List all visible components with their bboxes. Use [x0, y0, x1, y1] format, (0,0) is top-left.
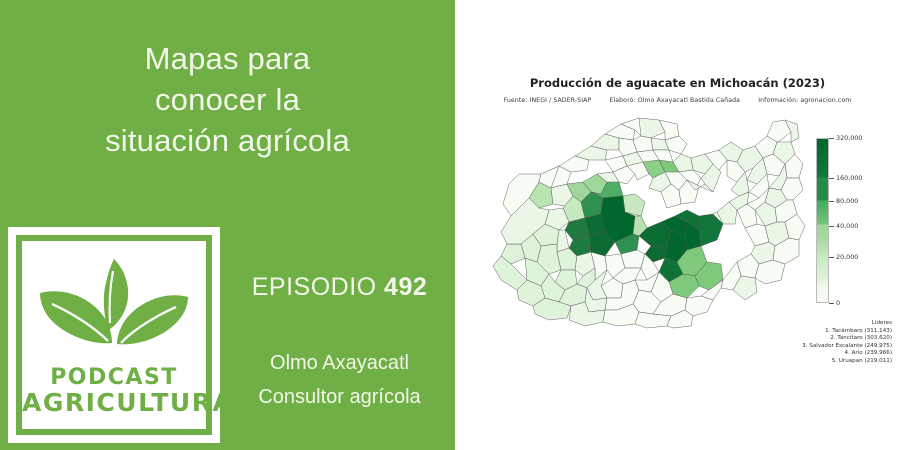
credit-info: Información: agronacion.com	[758, 97, 851, 104]
leader-name-4: Ario	[852, 350, 863, 356]
colorbar-label-4: 20,000	[836, 253, 858, 261]
credit-author: Elaboró: Olmo Axayacatl Bastida Cañada	[609, 97, 740, 104]
colorbar-label-2: 80,000	[836, 197, 858, 205]
colorbar-tick-2	[829, 201, 834, 202]
list-item: 3. Salvador Escalante (249,975)	[802, 343, 892, 351]
episode-line: EPISODIO 492	[224, 273, 455, 302]
logo-frame: PODCAST AGRICULTURA	[16, 235, 212, 435]
episode-label: EPISODIO	[252, 273, 377, 301]
leader-rank-5: 5.	[832, 358, 837, 364]
leader-name-5: Uruapan	[839, 358, 863, 364]
colorbar-label-3: 40,000	[836, 222, 858, 230]
leader-name-2: Tancítaro	[837, 335, 862, 341]
choropleth-map	[455, 112, 815, 337]
credit-source: Fuente: INEGI / SADER-SIAP	[504, 97, 592, 104]
podcast-logo: PODCAST AGRICULTURA	[8, 227, 220, 443]
colorbar-legend: 320,000 160,000 80,000 40,000 20,000 0 T…	[815, 130, 900, 310]
leaders-list: Líderes 1. Tacámbaro (311,143) 2. Tancít…	[802, 320, 892, 366]
colorbar-label-0: 320,000	[836, 134, 862, 142]
podcast-episode-cover: Mapas para conocer la situación agrícola	[0, 0, 900, 450]
leader-value-4: (239,966)	[865, 350, 893, 356]
logo-word-agricultura: AGRICULTURA	[22, 390, 206, 415]
colorbar-tick-1	[829, 178, 834, 179]
map-title: Producción de aguacate en Michoacán (202…	[455, 76, 900, 90]
leader-rank-4: 4.	[844, 350, 849, 356]
promo-panel: Mapas para conocer la situación agrícola	[0, 0, 455, 450]
logo-word-podcast: PODCAST	[22, 365, 206, 390]
leader-value-5: (219,011)	[865, 358, 893, 364]
leader-rank-2: 2.	[830, 335, 835, 341]
colorbar-label-1: 160,000	[836, 174, 862, 182]
map-credits: Fuente: INEGI / SADER-SIAP Elaboró: Olmo…	[455, 97, 900, 104]
colorbar-gradient	[816, 138, 829, 303]
leader-rank-1: 1.	[825, 328, 830, 334]
episode-number: 492	[384, 273, 427, 301]
leader-value-2: (303,620)	[865, 335, 893, 341]
colorbar-tick-4	[829, 257, 834, 258]
host-role: Consultor agrícola	[224, 386, 455, 409]
colorbar-tick-0	[829, 138, 834, 139]
leader-rank-3: 3.	[802, 343, 807, 349]
map-figure-panel: Producción de aguacate en Michoacán (202…	[455, 0, 900, 450]
colorbar-label-5: 0	[836, 299, 840, 307]
colorbar-tick-3	[829, 226, 834, 227]
leader-value-1: (311,143)	[865, 328, 893, 334]
logo-wordmark: PODCAST AGRICULTURA	[22, 365, 206, 415]
leader-value-3: (249,975)	[865, 343, 893, 349]
leader-name-1: Tacámbaro	[832, 328, 862, 334]
list-item: 4. Ario (239,966)	[802, 350, 892, 358]
list-item: 5. Uruapan (219,011)	[802, 358, 892, 366]
list-item: 2. Tancítaro (303,620)	[802, 335, 892, 343]
leader-name-3: Salvador Escalante	[809, 343, 862, 349]
three-leaves-icon	[34, 257, 194, 357]
leaders-title: Líderes	[802, 320, 892, 328]
page-title: Mapas para conocer la situación agrícola	[0, 38, 455, 161]
colorbar-tick-5	[829, 303, 834, 304]
host-name: Olmo Axayacatl	[224, 352, 455, 375]
